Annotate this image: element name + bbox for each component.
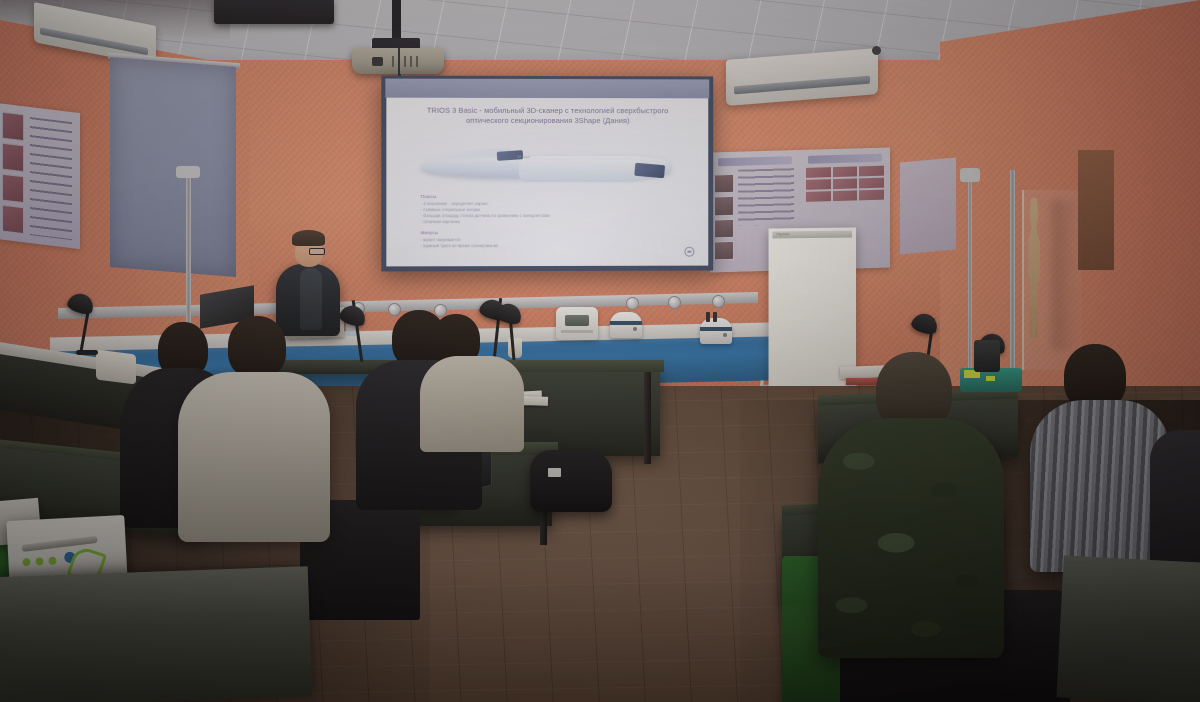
equipment-pole bbox=[1010, 170, 1015, 385]
poster-image bbox=[2, 205, 24, 235]
lamp-base bbox=[76, 350, 98, 355]
backpack-tag bbox=[548, 468, 561, 477]
device-band bbox=[700, 327, 732, 331]
pole-top-fitting bbox=[960, 168, 980, 182]
poster-thumb bbox=[806, 191, 831, 202]
slide-title: TRIOS 3 Basic - мобильный 3D-сканер с те… bbox=[400, 106, 694, 126]
device-screen bbox=[565, 315, 589, 326]
power-socket[interactable] bbox=[668, 296, 681, 309]
scanner-dark-accent-rear bbox=[634, 163, 665, 179]
right-bench-device bbox=[974, 340, 1000, 372]
projector-vent bbox=[392, 56, 422, 67]
slide-cons-heading: Минусы bbox=[421, 230, 671, 235]
poster-icon bbox=[714, 196, 734, 216]
ceiling-monitor-panel bbox=[214, 0, 334, 24]
poster-thumb bbox=[833, 178, 858, 189]
slide-con-item: - шумный треск во время сканирования bbox=[421, 243, 671, 250]
poster-panel-text bbox=[738, 168, 794, 226]
scanner-body bbox=[519, 160, 647, 182]
poster-icon-column bbox=[714, 174, 734, 261]
slide-title-line-1: TRIOS 3 Basic - мобильный 3D-сканер с те… bbox=[400, 106, 694, 116]
ac-pipe-outlet bbox=[872, 46, 881, 55]
scanner-brand-label: 3Shape bbox=[517, 155, 531, 159]
wall-poster-left bbox=[0, 103, 80, 249]
poster-thumb bbox=[859, 190, 884, 201]
projector-lens bbox=[372, 57, 383, 66]
foreground-table-left bbox=[0, 566, 312, 702]
wall-plug bbox=[706, 312, 718, 322]
power-socket[interactable] bbox=[712, 295, 725, 308]
poster-icon bbox=[714, 241, 734, 261]
poster-thumb-grid bbox=[800, 165, 890, 202]
student-torso bbox=[420, 356, 524, 452]
anatomy-shadow bbox=[1052, 200, 1078, 350]
poster-thumb bbox=[859, 178, 884, 189]
wooden-cabinet-edge bbox=[1078, 150, 1114, 270]
device-stripe bbox=[561, 330, 593, 333]
poster-image bbox=[2, 112, 24, 142]
ac-right-vent bbox=[734, 76, 870, 95]
poster-thumb bbox=[833, 166, 858, 177]
power-socket[interactable] bbox=[388, 303, 401, 316]
equipment-pole-left bbox=[186, 168, 191, 348]
power-socket[interactable] bbox=[626, 297, 639, 310]
equipment-indicator bbox=[986, 376, 995, 381]
poster-icon bbox=[714, 218, 734, 238]
slide-scanner-image: 3Shape bbox=[421, 138, 671, 190]
wall-poster-far-right bbox=[900, 158, 956, 255]
foreground-table-right bbox=[1056, 555, 1200, 702]
slide-title-line-2: оптического секционирования 3Shape (Дани… bbox=[400, 116, 694, 126]
poster-thumb bbox=[833, 190, 858, 201]
device-button[interactable] bbox=[723, 333, 727, 337]
presenter-glasses-icon bbox=[309, 248, 325, 255]
pole-top-fitting-left bbox=[176, 166, 200, 178]
student-backpack bbox=[530, 450, 612, 512]
student-torso-camo bbox=[818, 418, 1004, 658]
poster-thumb bbox=[859, 166, 884, 177]
flipchart-sheet[interactable]: Flipchart bbox=[769, 227, 857, 388]
equipment-pole bbox=[968, 180, 972, 380]
left-bench-device bbox=[96, 350, 136, 385]
poster-panel-heading bbox=[718, 156, 792, 166]
lab-device-display-unit bbox=[556, 307, 598, 340]
poster-left-text-lines bbox=[30, 117, 72, 240]
student-torso bbox=[178, 372, 330, 542]
device-indicator-dots bbox=[22, 556, 68, 566]
poster-image bbox=[2, 174, 24, 204]
student-torso-striped bbox=[1030, 400, 1170, 572]
device-band bbox=[610, 321, 642, 325]
projection-screen[interactable]: TRIOS 3 Basic - мобильный 3D-сканер с те… bbox=[381, 76, 713, 272]
wall-panel-blue bbox=[110, 57, 236, 277]
poster-thumb bbox=[806, 179, 831, 190]
desk-leg bbox=[644, 372, 651, 464]
flipchart-clip: Flipchart bbox=[772, 231, 852, 239]
classroom-photo: TRIOS 3 Basic - мобильный 3D-сканер с те… bbox=[0, 0, 1200, 702]
presenter-vest bbox=[300, 268, 322, 330]
student-head bbox=[228, 316, 286, 378]
device-button[interactable] bbox=[633, 327, 637, 331]
poster-left-images bbox=[2, 112, 24, 235]
screen-top-band bbox=[385, 79, 709, 99]
slide-corner-logo-icon bbox=[684, 247, 694, 257]
slide-pros-heading: Плюсы bbox=[421, 194, 671, 199]
lab-device-polisher bbox=[610, 312, 642, 338]
presenter-hair bbox=[292, 230, 325, 246]
slide-bullet-area: Плюсы - 4 поколение - определяет кариес … bbox=[421, 194, 671, 250]
poster-panel-heading bbox=[808, 154, 882, 164]
presentation-slide: TRIOS 3 Basic - мобильный 3D-сканер с те… bbox=[386, 98, 708, 267]
flipchart-brand-label: Flipchart bbox=[776, 232, 789, 236]
poster-image bbox=[2, 143, 24, 173]
poster-icon bbox=[714, 174, 734, 194]
poster-thumb bbox=[806, 167, 831, 178]
